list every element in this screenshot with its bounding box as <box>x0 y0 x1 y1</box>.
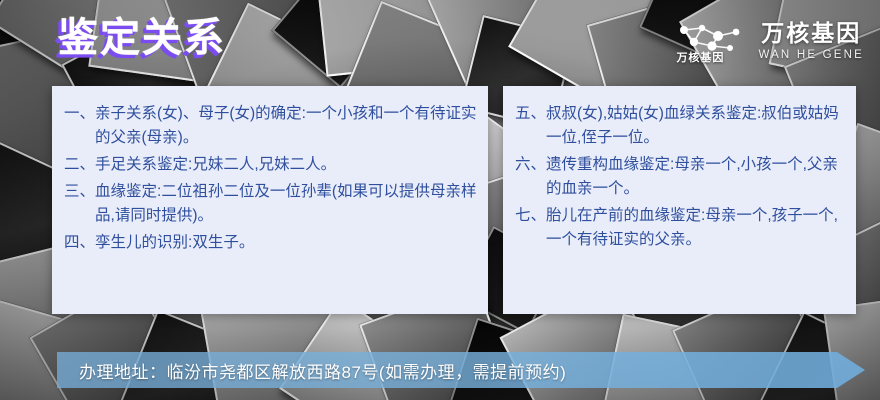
relationship-list-panel-right: 五、 叔叔(女),姑姑(女)血绿关系鉴定:叔伯或姑妈一位,侄子一位。 六、 遗传… <box>503 86 856 314</box>
page-title: 鉴定关系 <box>58 18 226 58</box>
list-item-number: 六、 <box>515 153 546 177</box>
list-item-number: 三、 <box>64 180 95 204</box>
address-banner: 办理地址：临汾市尧都区解放西路87号(如需办理，需提前预约) <box>57 352 865 388</box>
logo-mark-label: 万核基因 <box>676 49 724 65</box>
list-item-text: 胎儿在产前的血缘鉴定:母亲一个,孩子一个,一个有待证实的父亲。 <box>546 204 846 252</box>
list-item: 三、 血缘鉴定:二位祖孙二位及一位孙辈(如果可以提供母亲样品,请同时提供)。 <box>64 180 478 228</box>
brand-name-cn: 万核基因 <box>761 22 861 45</box>
list-item-text: 血缘鉴定:二位祖孙二位及一位孙辈(如果可以提供母亲样品,请同时提供)。 <box>95 180 478 228</box>
list-item-number: 七、 <box>515 204 546 228</box>
list-item: 六、 遗传重构血缘鉴定:母亲一个,小孩一个,父亲的血亲一个。 <box>515 153 846 201</box>
address-banner-text: 办理地址：临汾市尧都区解放西路87号(如需办理，需提前预约) <box>79 358 566 383</box>
list-item-number: 二、 <box>64 153 95 177</box>
list-item: 五、 叔叔(女),姑姑(女)血绿关系鉴定:叔伯或姑妈一位,侄子一位。 <box>515 102 846 150</box>
brand-name-block: 万核基因 WAN HE GENE <box>758 22 864 62</box>
list-item-text: 叔叔(女),姑姑(女)血绿关系鉴定:叔伯或姑妈一位,侄子一位。 <box>546 102 846 150</box>
list-item-number: 一、 <box>64 102 95 126</box>
list-item: 四、 孪生儿的识别:双生子。 <box>64 231 478 255</box>
list-item-text: 遗传重构血缘鉴定:母亲一个,小孩一个,父亲的血亲一个。 <box>546 153 846 201</box>
list-item-text: 孪生儿的识别:双生子。 <box>95 231 478 255</box>
list-item: 二、 手足关系鉴定:兄妹二人,兄妹二人。 <box>64 153 478 177</box>
list-item-number: 五、 <box>515 102 546 126</box>
list-item-text: 亲子关系(女)、母子(女)的确定:一个小孩和一个有待证实的父亲(母亲)。 <box>95 102 478 150</box>
relationship-list-panel-left: 一、 亲子关系(女)、母子(女)的确定:一个小孩和一个有待证实的父亲(母亲)。 … <box>52 86 488 314</box>
brand-name-en: WAN HE GENE <box>758 50 864 62</box>
list-item: 七、 胎儿在产前的血缘鉴定:母亲一个,孩子一个,一个有待证实的父亲。 <box>515 204 846 252</box>
list-item: 一、 亲子关系(女)、母子(女)的确定:一个小孩和一个有待证实的父亲(母亲)。 <box>64 102 478 150</box>
list-item-number: 四、 <box>64 231 95 255</box>
molecule-network-icon: 万核基因 <box>672 20 750 64</box>
list-item-text: 手足关系鉴定:兄妹二人,兄妹二人。 <box>95 153 478 177</box>
brand-logo: 万核基因 万核基因 WAN HE GENE <box>672 18 864 66</box>
